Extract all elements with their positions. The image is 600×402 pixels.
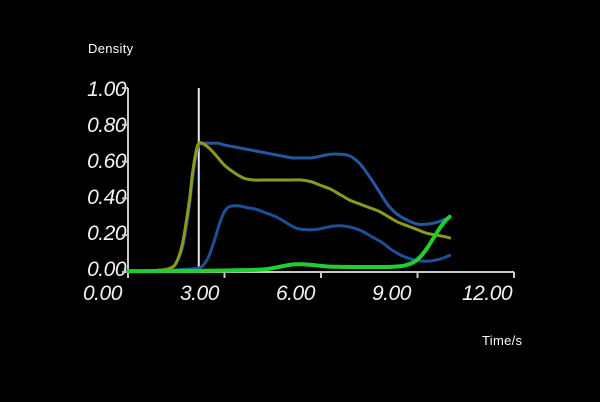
series-line-blue-upper xyxy=(128,143,450,271)
chart-screenshot: Density Time/s 1.00 0.80 0.60 0.40 0.20 … xyxy=(0,0,600,402)
plot-area xyxy=(0,0,600,402)
data-series-group xyxy=(128,143,450,272)
axis-lines xyxy=(128,88,514,272)
series-line-olive xyxy=(128,143,450,271)
